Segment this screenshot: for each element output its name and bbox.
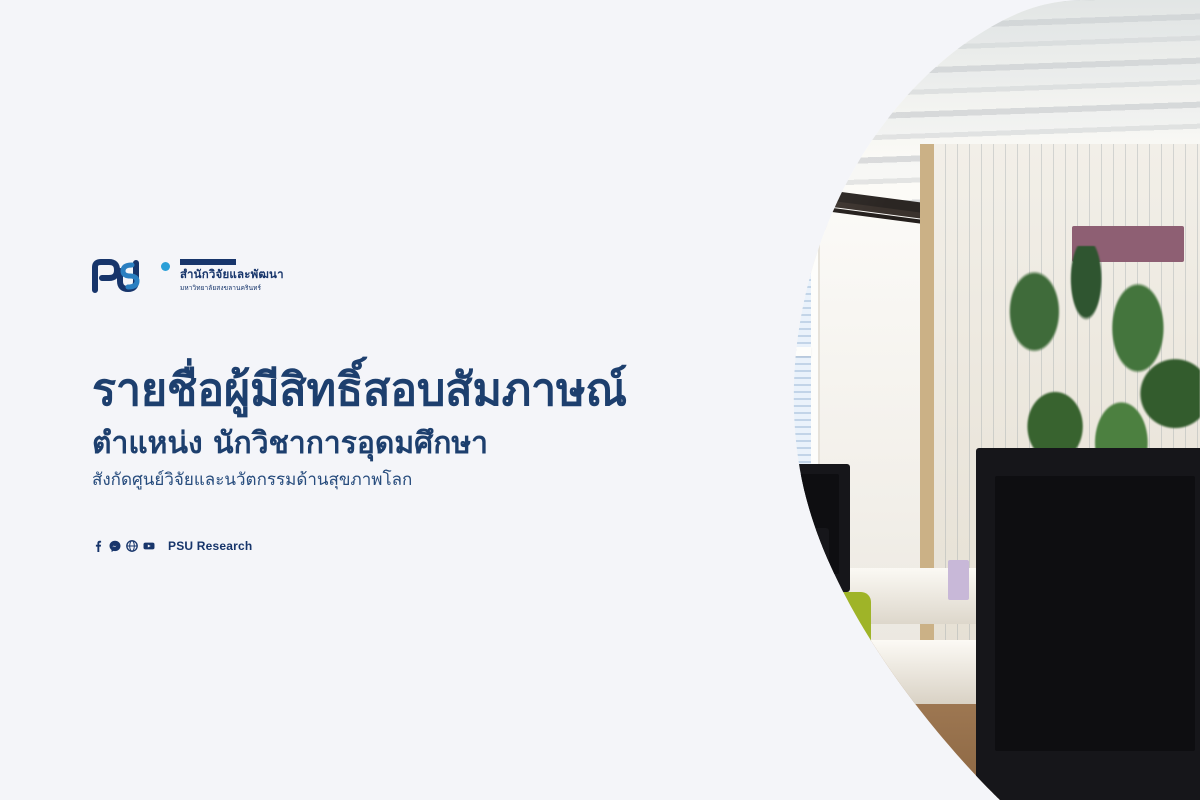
potted-plant-pot <box>717 736 773 800</box>
content-column: สำนักวิจัยและพัฒนา มหาวิทยาลัยสงขลานคริน… <box>92 255 632 553</box>
radiator <box>528 600 626 656</box>
window-mullion <box>749 347 812 356</box>
window-mullion <box>670 366 737 375</box>
psu-office-name: สำนักวิจัยและพัฒนา <box>180 268 284 281</box>
desk-item <box>668 584 686 632</box>
office-chair <box>682 664 780 784</box>
potted-plant-rim <box>710 720 780 740</box>
computer-monitor <box>500 560 626 752</box>
office-chair <box>752 592 871 768</box>
globe-icon[interactable] <box>126 540 138 552</box>
desk-fan <box>542 544 591 624</box>
department-line: สังกัดศูนย์วิจัยและนวัตกรรมด้านสุขภาพโลก <box>92 469 632 491</box>
psu-logo-text: สำนักวิจัยและพัฒนา มหาวิทยาลัยสงขลานคริน… <box>180 259 284 292</box>
desk-item <box>584 616 626 648</box>
facebook-icon[interactable] <box>92 540 104 552</box>
window-post <box>704 195 712 603</box>
potted-plant-leaves <box>689 584 801 728</box>
desk-item <box>689 584 703 632</box>
desk-item <box>626 600 647 632</box>
page-title: รายชื่อผู้มีสิทธิ์สอบสัมภาษณ์ <box>92 363 632 416</box>
computer-monitor <box>647 528 829 704</box>
position-title: ตำแหน่ง นักวิชาการอุดมศึกษา <box>92 426 632 462</box>
keyboard <box>808 752 934 784</box>
social-row: PSU Research <box>92 539 632 553</box>
psu-university-name: มหาวิทยาลัยสงขลานครินทร์ <box>180 283 284 293</box>
window-blind <box>670 195 737 603</box>
computer-monitor <box>710 464 850 592</box>
desk-item <box>948 560 969 600</box>
social-handle: PSU Research <box>168 539 252 553</box>
psu-wordmark-icon <box>92 259 158 293</box>
psu-logo: สำนักวิจัยและพัฒนา มหาวิทยาลัยสงขลานคริน… <box>92 255 632 297</box>
computer-monitor <box>976 448 1200 800</box>
logo-bar <box>180 259 236 265</box>
window-blind <box>749 176 812 603</box>
youtube-icon[interactable] <box>143 540 155 552</box>
poster-root: สำนักวิจัยและพัฒนา มหาวิทยาลัยสงขลานคริน… <box>0 0 1200 800</box>
messenger-icon[interactable] <box>109 540 121 552</box>
logo-accent-dot <box>161 262 170 271</box>
